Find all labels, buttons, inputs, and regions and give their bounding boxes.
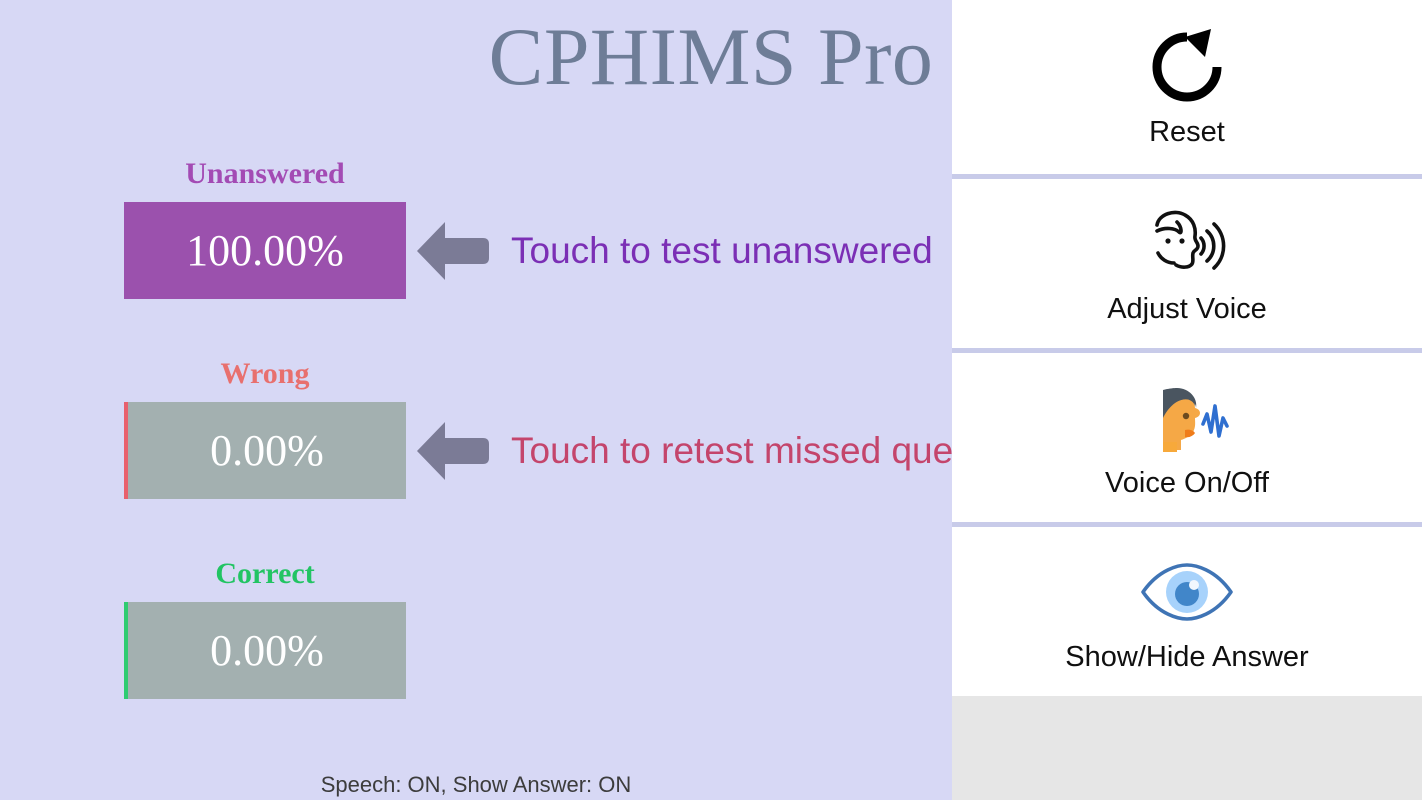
arrow-left-icon (417, 220, 489, 282)
menu-item-label: Reset (1149, 115, 1225, 149)
stat-label-wrong: Wrong (124, 355, 406, 393)
options-menu-panel: Reset (952, 0, 1422, 800)
stat-bar-correct[interactable]: 0.00% (124, 602, 406, 699)
options-menu-list: Reset (952, 0, 1422, 696)
hint-row-unanswered[interactable]: Touch to test unanswered (417, 202, 933, 299)
speaking-head-icon (1141, 376, 1233, 460)
eye-icon (1139, 550, 1235, 634)
ear-with-sound-waves-icon (1141, 202, 1233, 286)
stat-value-unanswered: 100.00% (186, 227, 344, 275)
menu-item-label: Show/Hide Answer (1065, 640, 1308, 674)
stat-bar-unanswered[interactable]: 100.00% (124, 202, 406, 299)
hint-text-unanswered: Touch to test unanswered (511, 230, 933, 272)
stat-block-unanswered: Unanswered 100.00% (124, 155, 406, 299)
app-root: CPHIMS Pro Unanswered 100.00% Touch to t… (0, 0, 1422, 800)
menu-item-label: Adjust Voice (1107, 292, 1267, 326)
menu-item-reset[interactable]: Reset (952, 0, 1422, 174)
menu-item-show-hide-answer[interactable]: Show/Hide Answer (952, 522, 1422, 696)
stat-label-correct: Correct (124, 555, 406, 593)
stat-value-correct: 0.00% (210, 627, 324, 675)
hint-row-wrong[interactable]: Touch to retest missed que (417, 402, 953, 499)
arrow-left-icon (417, 420, 489, 482)
stat-bar-wrong[interactable]: 0.00% (124, 402, 406, 499)
stat-label-unanswered: Unanswered (124, 155, 406, 193)
menu-item-adjust-voice[interactable]: Adjust Voice (952, 174, 1422, 348)
menu-item-voice-on-off[interactable]: Voice On/Off (952, 348, 1422, 522)
hint-text-wrong: Touch to retest missed que (511, 430, 953, 472)
stat-value-wrong: 0.00% (210, 427, 324, 475)
stat-block-correct: Correct 0.00% (124, 555, 406, 699)
status-line: Speech: ON, Show Answer: ON (0, 771, 952, 799)
menu-item-label: Voice On/Off (1105, 466, 1269, 500)
refresh-icon (1147, 25, 1227, 109)
stat-block-wrong: Wrong 0.00% (124, 355, 406, 499)
